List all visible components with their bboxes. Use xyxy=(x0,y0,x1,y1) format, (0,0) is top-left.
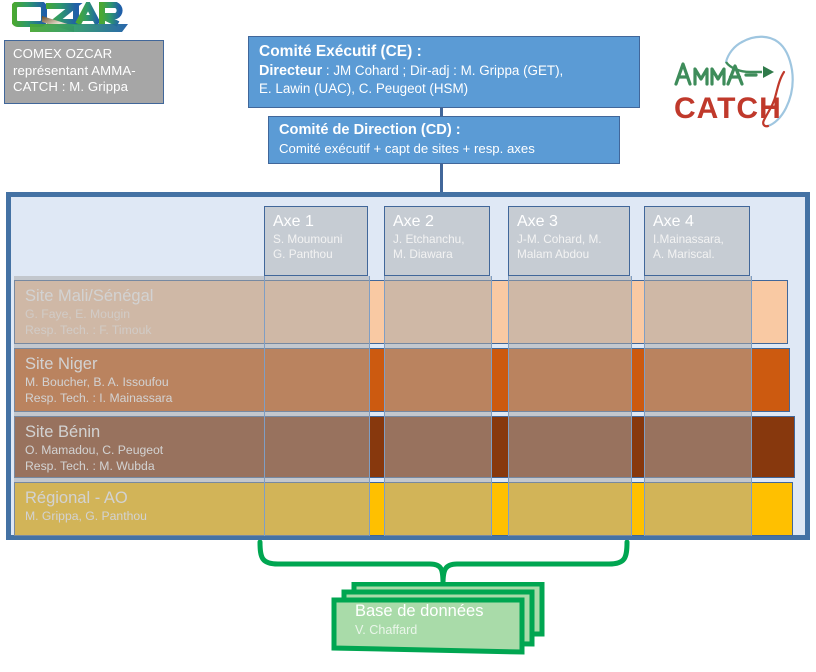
axe-header-4: Axe 4 I.Mainassara, A. Mariscal. xyxy=(644,206,750,276)
axe-member-1: S. Moumouni xyxy=(273,232,367,247)
axe-title: Axe 2 xyxy=(393,211,489,232)
site-title: Régional - AO xyxy=(25,487,792,509)
axe-title: Axe 1 xyxy=(273,211,367,232)
site-tech-lead: Resp. Tech. : I. Mainassara xyxy=(25,391,789,407)
site-tech-lead: Resp. Tech. : M. Wubda xyxy=(25,459,794,475)
axe-member-1: J-M. Cohard, M. xyxy=(517,232,629,247)
cd-to-matrix-connector xyxy=(440,163,443,195)
ce-director-label: Directeur xyxy=(259,63,322,79)
axe-member-2: A. Mariscal. xyxy=(653,247,749,262)
comex-to-ce-dotted-connector xyxy=(165,70,250,73)
axe-member-1: J. Etchanchu, xyxy=(393,232,489,247)
ce-title: Comité Exécutif (CE) : xyxy=(259,41,639,62)
ce-line-3: E. Lawin (UAC), C. Peugeot (HSM) xyxy=(259,80,639,98)
cd-title: Comité de Direction (CD) : xyxy=(279,120,619,140)
comex-line-1: COMEX OZCAR xyxy=(13,46,163,63)
database-title: Base de données xyxy=(355,600,529,622)
comex-line-3: CATCH : M. Grippa xyxy=(13,79,163,96)
ce-director-line: Directeur : JM Cohard ; Dir-adj : M. Gri… xyxy=(259,62,639,80)
axe-member-2: M. Diawara xyxy=(393,247,489,262)
axe-title: Axe 4 xyxy=(653,211,749,232)
site-members: O. Mamadou, C. Peugeot xyxy=(25,443,794,459)
site-members: G. Faye, E. Mougin xyxy=(25,307,787,323)
comex-ozcar-box: COMEX OZCAR représentant AMMA- CATCH : M… xyxy=(4,40,164,104)
site-title: Site Bénin xyxy=(25,421,794,443)
site-row-niger: Site Niger M. Boucher, B. A. Issoufou Re… xyxy=(14,348,790,412)
site-tech-lead: Resp. Tech. : F. Timouk xyxy=(25,323,787,339)
database-manager: V. Chaffard xyxy=(355,622,529,638)
ozcar-logo xyxy=(12,2,152,36)
axe-header-1: Axe 1 S. Moumouni G. Panthou xyxy=(264,206,368,276)
comex-line-2: représentant AMMA- xyxy=(13,63,163,80)
site-row-mali-senegal: Site Mali/Sénégal G. Faye, E. Mougin Res… xyxy=(14,280,788,344)
site-members: M. Grippa, G. Panthou xyxy=(25,509,792,525)
axe-header-3: Axe 3 J-M. Cohard, M. Malam Abdou xyxy=(508,206,630,276)
axe-member-2: G. Panthou xyxy=(273,247,367,262)
ce-director-rest: : JM Cohard ; Dir-adj : M. Grippa (GET), xyxy=(322,63,563,78)
database-label: Base de données V. Chaffard xyxy=(349,600,529,638)
site-title: Site Mali/Sénégal xyxy=(25,285,787,307)
amma-catch-logo: CATCH xyxy=(664,28,812,136)
axe-member-1: I.Mainassara, xyxy=(653,232,749,247)
site-row-regional-ao: Régional - AO M. Grippa, G. Panthou xyxy=(14,482,793,536)
comite-de-direction-box: Comité de Direction (CD) : Comité exécut… xyxy=(268,116,620,164)
svg-text:CATCH: CATCH xyxy=(674,92,782,125)
axe-member-2: Malam Abdou xyxy=(517,247,629,262)
axe-title: Axe 3 xyxy=(517,211,629,232)
cd-subtitle: Comité exécutif + capt de sites + resp. … xyxy=(279,140,619,157)
comite-executif-box: Comité Exécutif (CE) : Directeur : JM Co… xyxy=(248,36,640,108)
site-row-benin: Site Bénin O. Mamadou, C. Peugeot Resp. … xyxy=(14,416,795,478)
site-title: Site Niger xyxy=(25,353,789,375)
axe-header-2: Axe 2 J. Etchanchu, M. Diawara xyxy=(384,206,490,276)
site-members: M. Boucher, B. A. Issoufou xyxy=(25,375,789,391)
